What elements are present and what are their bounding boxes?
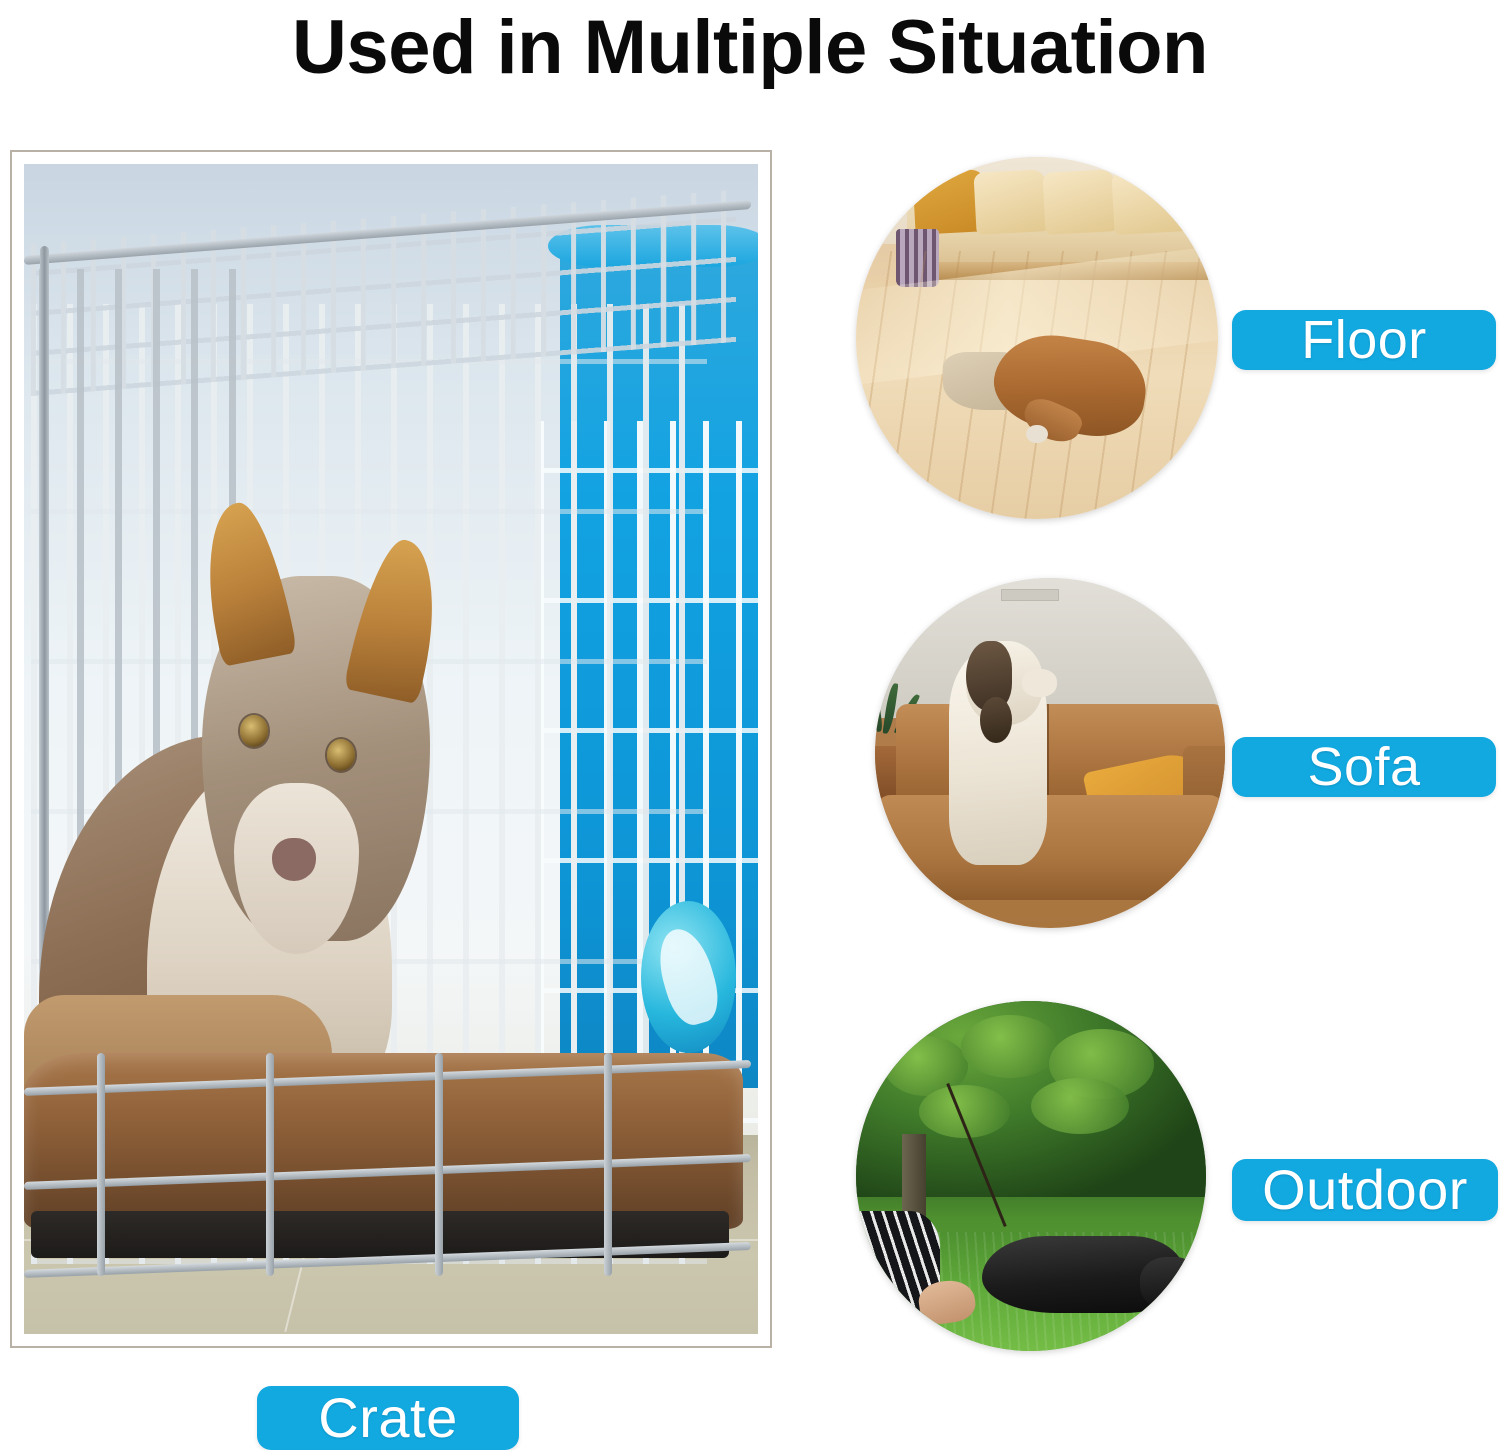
dog-ear-left (193, 498, 298, 668)
floor-scene-cushion-4 (1111, 170, 1187, 235)
crate-lower-vertical-2 (266, 1053, 274, 1275)
sofa-scene-dog-collar (980, 697, 1012, 743)
dog-eye-left (240, 715, 268, 747)
dog-nose (272, 838, 315, 881)
label-pill-outdoor: Outdoor (1232, 1159, 1498, 1221)
crate-lower-vertical-3 (435, 1053, 443, 1275)
scene-circle-sofa (875, 578, 1225, 928)
sofa-scene-wall-vent (1001, 589, 1059, 602)
floor-scene-dog-paw (1026, 425, 1048, 443)
crate-lower-vertical-1 (97, 1053, 105, 1275)
dog-ear-right (344, 534, 451, 705)
outdoor-scene-foliage-2 (961, 1015, 1059, 1078)
scene-circle-outdoor (856, 1001, 1206, 1351)
floor-scene-cushion-3 (1043, 170, 1119, 235)
outdoor-scene (856, 1001, 1206, 1351)
crate-photo-frame (10, 150, 772, 1348)
sofa-scene-dog-snout (1022, 669, 1057, 697)
crate-lower-vertical-4 (604, 1053, 612, 1275)
page-title: Used in Multiple Situation (0, 0, 1500, 96)
dog-eye-right (327, 739, 355, 771)
floor-scene-cushion-2 (974, 170, 1050, 235)
sofa-scene (875, 578, 1225, 928)
scene-circle-floor (856, 157, 1218, 519)
blue-ball-toy (641, 901, 736, 1053)
label-pill-sofa: Sofa (1232, 737, 1496, 797)
sofa-scene-cushion-seam (1047, 704, 1049, 809)
label-pill-floor: Floor (1232, 310, 1496, 370)
sofa-scene-sofa-seat (875, 795, 1225, 900)
floor-scene (856, 157, 1218, 519)
label-pill-crate: Crate (257, 1386, 519, 1450)
crate-photo (24, 164, 758, 1334)
outdoor-scene-foliage-5 (1031, 1078, 1129, 1134)
outdoor-scene-dog-head (1140, 1257, 1200, 1310)
